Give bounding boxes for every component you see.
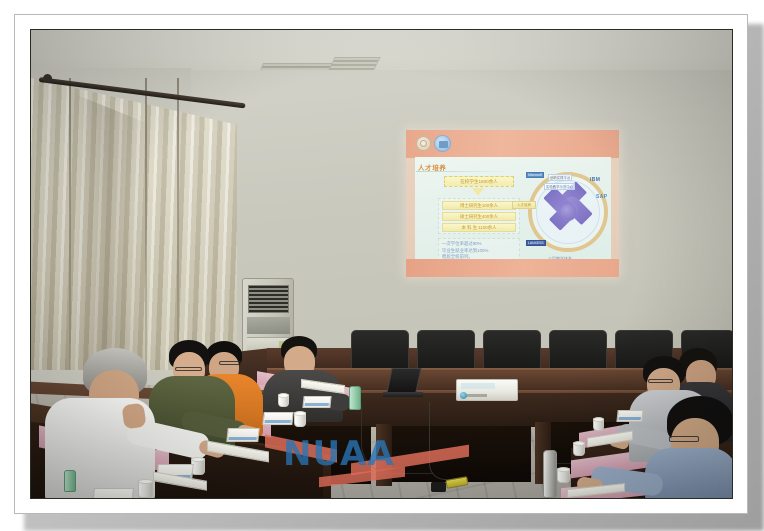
university-seal-logo-icon xyxy=(416,136,431,151)
slide-stat-line: 一次学位率超过90% xyxy=(442,241,516,248)
blue-circle-logo-icon xyxy=(434,135,451,152)
chair xyxy=(417,330,475,372)
diagram-brand-chip: Microsoft xyxy=(526,172,544,178)
slide-tier-box: 博士研究生100余人 硕士研究生400余人 本 科 生 1100余人 xyxy=(438,198,520,234)
slide-total-students-text: 在校学生1600余人 xyxy=(460,179,498,185)
air-conditioner-grille xyxy=(248,285,289,313)
curtain-shadow-fold xyxy=(71,78,151,370)
curtain-seam xyxy=(145,78,147,370)
conference-room-photograph: 人才培养 在校学生1600余人 博士研究生100余人 硕士研究生400余人 xyxy=(30,29,733,499)
green-drink-bottle xyxy=(349,386,361,410)
chair xyxy=(549,330,607,372)
slide-tier-text: 本 科 生 1100余人 xyxy=(461,225,496,231)
slide-footer-band xyxy=(406,259,619,277)
slide-title-underline xyxy=(416,171,512,172)
slide-total-students-box: 在校学生1600余人 xyxy=(444,176,514,187)
participant-glasses-icon xyxy=(219,361,241,365)
paper-cup xyxy=(294,412,306,427)
slide-tier-row: 博士研究生100余人 xyxy=(442,201,516,210)
paper-cup xyxy=(138,480,153,498)
paper-cup xyxy=(573,442,585,456)
slide-tier-row: 硕士研究生400余人 xyxy=(442,212,516,221)
diagram-side-tag-text: 人才培养 xyxy=(517,203,531,208)
diagram-side-tag: 人才培养 xyxy=(512,201,536,209)
window-curtains xyxy=(31,78,237,370)
diagram-brand-chip: LANXESS xyxy=(526,240,546,246)
chair xyxy=(351,330,409,372)
laptop-keyboard xyxy=(383,392,423,397)
curtain-rod-finial xyxy=(43,74,52,83)
slide-tier-text: 博士研究生100余人 xyxy=(460,203,498,209)
participant-glasses-icon xyxy=(175,367,202,371)
paper-cup xyxy=(557,468,570,483)
projector-lens-icon xyxy=(460,392,467,399)
air-conditioner-vent-panel xyxy=(247,317,290,334)
curtain-seam xyxy=(69,78,71,370)
projector-top-panel xyxy=(461,383,495,389)
slide-tier-text: 硕士研究生400余人 xyxy=(460,214,498,220)
paper-cup xyxy=(593,418,604,431)
slide-pinwheel-diagram: 人才培养 创新实践平台 实验教学示范中心 Microsoft LANXESS I… xyxy=(524,168,612,260)
projection-screen: 人才培养 在校学生1600余人 博士研究生100余人 硕士研究生400余人 xyxy=(406,130,619,277)
participant-glasses-icon xyxy=(648,379,673,383)
power-cable xyxy=(361,404,433,474)
laptop-screen xyxy=(386,368,421,393)
slide-down-arrow-icon xyxy=(472,188,484,196)
green-drink-bottle xyxy=(64,470,76,492)
curtain-seam xyxy=(177,78,179,370)
participant-glasses-icon xyxy=(669,436,699,442)
diagram-brand-sap: SAP xyxy=(596,194,607,200)
name-card xyxy=(226,428,259,442)
chair xyxy=(483,330,541,372)
name-card xyxy=(616,410,643,422)
name-card xyxy=(302,396,331,408)
framed-photo-page: 人才培养 在校学生1600余人 博士研究生100余人 硕士研究生400余人 xyxy=(0,0,764,531)
diagram-brand-ibm: IBM xyxy=(590,177,600,183)
diagram-chip: 实验教学示范中心 xyxy=(544,183,575,190)
thermos-flask xyxy=(543,450,557,498)
slide-tier-row: 本 科 生 1100余人 xyxy=(442,223,516,232)
room-scene: 人才培养 在校学生1600余人 博士研究生100余人 硕士研究生400余人 xyxy=(31,30,732,498)
diagram-hub xyxy=(559,203,577,221)
name-card xyxy=(262,412,293,425)
paper-cup xyxy=(278,394,289,407)
participant-hand-on-chin xyxy=(121,403,146,430)
diagram-chip: 创新实践平台 xyxy=(548,174,572,181)
power-adapter xyxy=(431,482,446,492)
projected-slide: 人才培养 在校学生1600余人 博士研究生100余人 硕士研究生400余人 xyxy=(406,130,619,277)
name-card xyxy=(92,488,134,499)
